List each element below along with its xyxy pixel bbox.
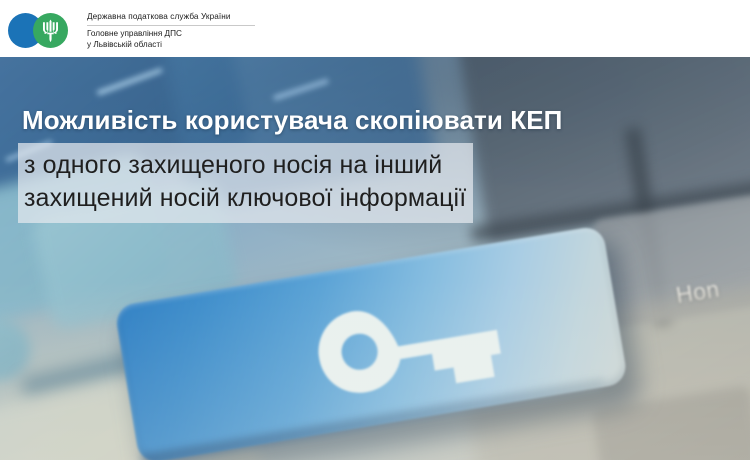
agency-organization-name: Державна податкова служба України <box>87 11 307 22</box>
header-divider <box>87 25 255 26</box>
agency-department-line-1: Головне управління ДПС <box>87 29 307 40</box>
banner-subtitle-box: з одного захищеного носія на інший захищ… <box>18 143 473 223</box>
agency-logo[interactable] <box>8 13 80 48</box>
banner-page: Державна податкова служба України Головн… <box>0 0 750 460</box>
banner-subtitle-line-1: з одного захищеного носія на інший <box>24 149 473 182</box>
agency-department-line-2: у Львівській області <box>87 40 307 51</box>
trident-emblem-icon <box>41 19 60 42</box>
agency-name-block: Державна податкова служба України Головн… <box>87 11 307 50</box>
site-header: Державна податкова служба України Головн… <box>0 0 750 57</box>
banner-subtitle-line-2: захищений носій ключової інформації <box>24 182 473 215</box>
banner-title: Можливість користувача скопіювати КЕП <box>22 105 562 136</box>
